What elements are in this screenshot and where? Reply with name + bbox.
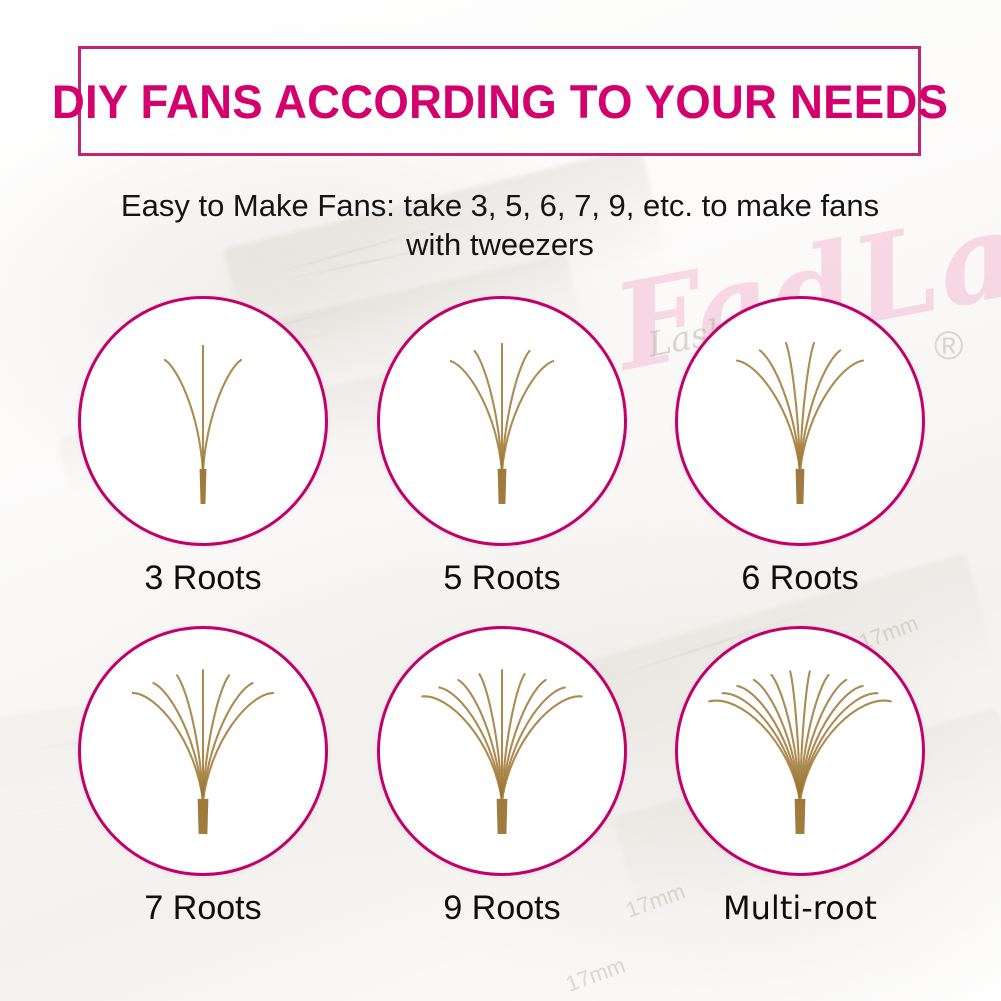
fan-grid-row: 3 Roots 5 Roots 6 Roots bbox=[0, 296, 1001, 626]
lash-fan-3-icon bbox=[78, 296, 328, 546]
fan-card-label: 5 Roots bbox=[352, 558, 652, 598]
page-title: DIY FANS ACCORDING TO YOUR NEEDS bbox=[51, 74, 947, 129]
fan-card-label: 9 Roots bbox=[352, 888, 652, 928]
fan-type-grid: 3 Roots 5 Roots 6 Roots 7 Roots bbox=[0, 296, 1001, 956]
fan-card-5-roots[interactable]: 5 Roots bbox=[352, 296, 652, 598]
fan-card-label: 3 Roots bbox=[53, 558, 353, 598]
fan-card-label: 7 Roots bbox=[53, 888, 353, 928]
product-infographic: FadLash Lash ® 17mm 17mm 17mm DIY FANS A… bbox=[0, 0, 1001, 1001]
size-mark-label: 17mm bbox=[562, 952, 628, 997]
lash-fan-5-icon bbox=[377, 296, 627, 546]
title-banner: DIY FANS ACCORDING TO YOUR NEEDS bbox=[78, 46, 921, 156]
fan-card-label: Multi-root bbox=[650, 888, 950, 928]
fan-card-7-roots[interactable]: 7 Roots bbox=[53, 626, 353, 928]
subtitle-text: Easy to Make Fans: take 3, 5, 6, 7, 9, e… bbox=[90, 186, 910, 264]
lash-fan-7-icon bbox=[78, 626, 328, 876]
fan-card-3-roots[interactable]: 3 Roots bbox=[53, 296, 353, 598]
lash-fan-9-icon bbox=[377, 626, 627, 876]
fan-grid-row: 7 Roots 9 Roots Multi-root bbox=[0, 626, 1001, 956]
fan-card-multi-root[interactable]: Multi-root bbox=[650, 626, 950, 928]
fan-card-6-roots[interactable]: 6 Roots bbox=[650, 296, 950, 598]
fan-card-9-roots[interactable]: 9 Roots bbox=[352, 626, 652, 928]
lash-fan-multi-icon bbox=[675, 626, 925, 876]
lash-fan-6-icon bbox=[675, 296, 925, 546]
fan-card-label: 6 Roots bbox=[650, 558, 950, 598]
